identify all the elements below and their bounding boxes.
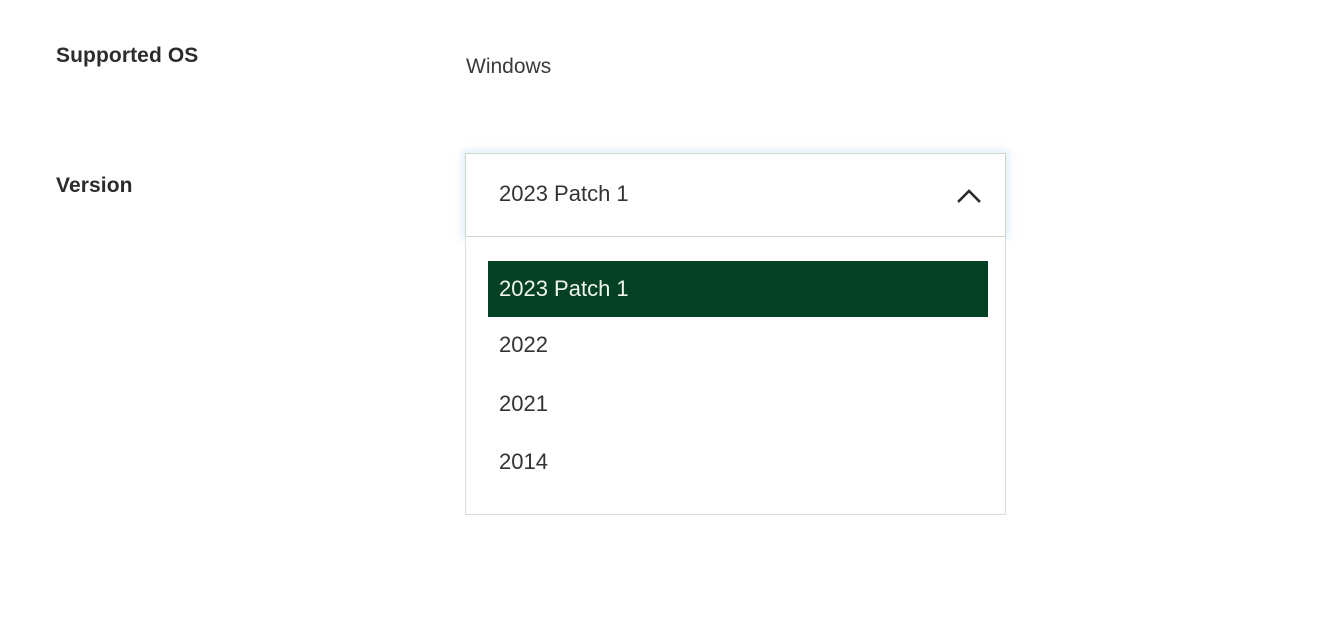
version-select-value: 2023 Patch 1 — [499, 181, 629, 207]
version-dropdown-panel: 2023 Patch 1 2022 2021 2014 — [465, 237, 1006, 515]
list-item[interactable]: 2021 — [488, 376, 988, 432]
list-item[interactable]: 2022 — [488, 317, 988, 373]
version-label: Version — [56, 174, 133, 198]
version-form: Supported OS Windows Version 2023 Patch … — [0, 0, 1317, 618]
list-item[interactable]: 2014 — [488, 434, 988, 490]
supported-os-value: Windows — [466, 55, 551, 79]
supported-os-label: Supported OS — [56, 44, 198, 68]
list-item[interactable]: 2023 Patch 1 — [488, 261, 988, 317]
chevron-up-icon[interactable] — [953, 182, 985, 210]
version-select-combobox[interactable]: 2023 Patch 1 — [465, 153, 1006, 237]
